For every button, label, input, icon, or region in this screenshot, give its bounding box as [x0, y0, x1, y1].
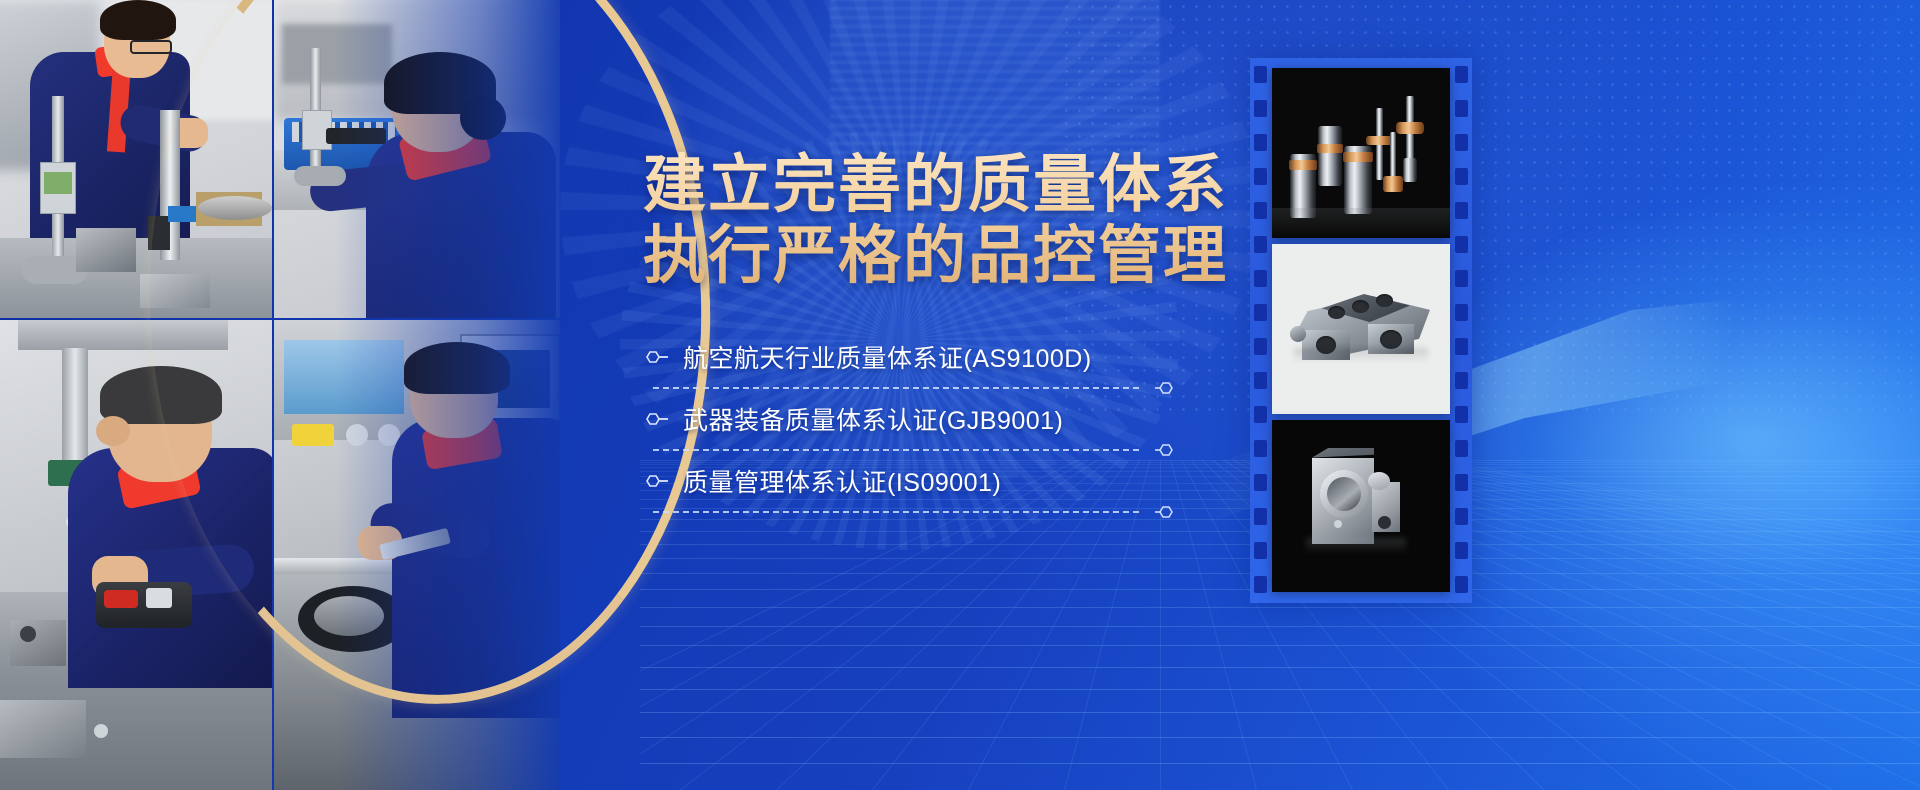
product-precision-shafts-bushings — [1272, 68, 1450, 238]
filmstrip-perforation — [1254, 542, 1267, 559]
filmstrip-perforation — [1455, 372, 1468, 389]
filmstrip-perforation — [1254, 508, 1267, 525]
filmstrip-perforation — [1254, 474, 1267, 491]
certification-label-3: 质量管理体系认证(IS09001) — [683, 463, 1001, 499]
list-item: 质量管理体系认证(IS09001) — [643, 455, 1163, 507]
page-title: 建立完善的质量体系 执行严格的品控管理 — [643, 150, 1283, 291]
product-filmstrip — [1250, 58, 1472, 603]
list-item: 武器装备质量体系认证(GJB9001) — [643, 393, 1163, 445]
filmstrip-perforation — [1455, 100, 1468, 117]
quality-system-banner: 建立完善的质量体系 执行严格的品控管理 航空航天行业质量体系证(AS9100D) — [0, 0, 1920, 790]
divider-3 — [653, 507, 1163, 517]
filmstrip-perforation — [1455, 168, 1468, 185]
filmstrip-perforation — [1254, 406, 1267, 423]
filmstrip-perforation — [1455, 406, 1468, 423]
divider-1 — [653, 383, 1163, 393]
headline-line-2: 执行严格的品控管理 — [643, 221, 1283, 292]
filmstrip-perforation — [1254, 202, 1267, 219]
filmstrip-perforation — [1254, 168, 1267, 185]
filmstrip-perforation — [1254, 270, 1267, 287]
filmstrip-perforation — [1455, 474, 1468, 491]
filmstrip-perforation — [1254, 338, 1267, 355]
certification-list: 航空航天行业质量体系证(AS9100D) — [643, 331, 1163, 517]
filmstrip-perforation — [1455, 576, 1468, 593]
filmstrip-perforation — [1254, 236, 1267, 253]
filmstrip-perforation — [1254, 100, 1267, 117]
filmstrip-perforation — [1455, 236, 1468, 253]
filmstrip-perforation — [1254, 304, 1267, 321]
divider-2 — [653, 445, 1163, 455]
filmstrip-perforation — [1254, 576, 1267, 593]
filmstrip-perforation — [1455, 508, 1468, 525]
filmstrip-perforation — [1254, 134, 1267, 151]
copy-block: 建立完善的质量体系 执行严格的品控管理 航空航天行业质量体系证(AS9100D) — [643, 150, 1283, 517]
certification-label-1: 航空航天行业质量体系证(AS9100D) — [683, 339, 1092, 375]
filmstrip-perforation — [1455, 270, 1468, 287]
certification-label-2: 武器装备质量体系认证(GJB9001) — [683, 401, 1063, 437]
product-bearing-block — [1272, 420, 1450, 592]
filmstrip-perforation — [1455, 134, 1468, 151]
filmstrip-perforation — [1455, 440, 1468, 457]
filmstrip-perforation — [1254, 66, 1267, 83]
hexagon-dash-icon — [643, 349, 669, 365]
filmstrip-perforation — [1455, 66, 1468, 83]
hexagon-dash-icon — [643, 473, 669, 489]
hexagon-end-icon — [1155, 441, 1175, 464]
hexagon-dash-icon — [643, 411, 669, 427]
hexagon-end-icon — [1155, 503, 1175, 526]
filmstrip-perforation — [1254, 372, 1267, 389]
product-aluminium-housing — [1272, 244, 1450, 414]
hexagon-end-icon — [1155, 379, 1175, 402]
filmstrip-perforation — [1455, 202, 1468, 219]
filmstrip-perforation — [1455, 338, 1468, 355]
filmstrip-perforation — [1455, 304, 1468, 321]
filmstrip-perforation — [1254, 440, 1267, 457]
list-item: 航空航天行业质量体系证(AS9100D) — [643, 331, 1163, 383]
filmstrip-perforation — [1455, 542, 1468, 559]
headline-line-1: 建立完善的质量体系 — [643, 150, 1228, 220]
